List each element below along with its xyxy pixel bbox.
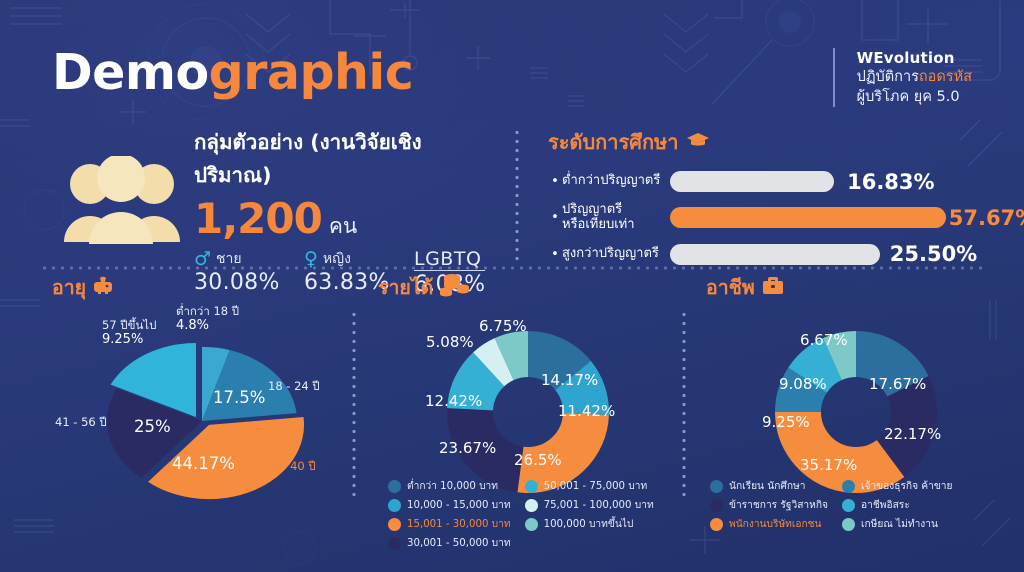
- divider-age-income: [352, 310, 356, 500]
- education-title: ระดับการศึกษา: [548, 126, 678, 158]
- income-value-0: 14.17%: [541, 371, 598, 389]
- legend-label: 50,001 - 75,000 บาท: [544, 478, 648, 494]
- legend-label: นักเรียน นักศึกษา: [729, 478, 805, 494]
- legend-color-dot: [710, 499, 723, 512]
- divider-income-occupation: [682, 310, 686, 500]
- legend-item[interactable]: เจ้าของธุรกิจ ค้าขาย: [842, 478, 952, 494]
- bullet-icon: •: [548, 174, 562, 189]
- income-value-3: 23.67%: [439, 439, 496, 457]
- page-title: Demographic: [52, 48, 413, 97]
- education-row: • ปริญญาตรี หรือเทียบเท่า 57.67%: [548, 203, 998, 233]
- legend-color-dot: [842, 499, 855, 512]
- legend-color-dot: [388, 518, 401, 531]
- piggy-bank-icon: [93, 276, 113, 300]
- education-section: ระดับการศึกษา • ต่ำกว่าปริญญาตรี 16.83% …: [548, 126, 998, 265]
- occupation-chart-title: อาชีพ: [706, 272, 755, 303]
- education-row-label: ปริญญาตรี หรือเทียบเท่า: [562, 203, 670, 233]
- age-label-2: 25 - 40 ปี: [264, 458, 316, 476]
- brand-tagline-prefix: ปฏิบัติการ: [857, 69, 919, 85]
- income-legend-column-right: 50,001 - 75,000 บาท 75,001 - 100,000 บาท…: [525, 478, 654, 551]
- legend-label: พนักงานบริษัทเอกชน: [729, 516, 822, 532]
- legend-item[interactable]: พนักงานบริษัทเอกชน: [710, 516, 828, 532]
- income-chart-title-row: รายได้: [378, 272, 678, 303]
- male-symbol-icon: ♂: [194, 250, 211, 269]
- coins-stack-icon: [440, 273, 470, 302]
- legend-color-dot: [388, 480, 401, 493]
- female-symbol-icon: ♀: [304, 250, 318, 269]
- legend-item[interactable]: เกษียณ ไม่ทำงาน: [842, 516, 952, 532]
- age-value-3: 25%: [134, 417, 171, 436]
- education-title-row: ระดับการศึกษา: [548, 126, 998, 158]
- legend-item[interactable]: 30,001 - 50,000 บาท: [388, 535, 511, 551]
- income-value-6: 6.75%: [479, 317, 527, 335]
- income-value-5: 5.08%: [426, 333, 474, 351]
- legend-color-dot: [710, 518, 723, 531]
- legend-color-dot: [710, 480, 723, 493]
- legend-color-dot: [525, 499, 538, 512]
- gender-male-label: ชาย: [216, 248, 242, 270]
- age-pie-svg: [52, 309, 352, 509]
- education-row: • สูงกว่าปริญญาตรี 25.50%: [548, 244, 998, 265]
- education-row-value: 25.50%: [890, 242, 977, 266]
- age-chart-title-row: อายุ: [52, 272, 352, 303]
- legend-color-dot: [842, 518, 855, 531]
- education-bar-fill: [670, 244, 880, 265]
- legend-item[interactable]: ต่ำกว่า 10,000 บาท: [388, 478, 511, 494]
- gender-female-label: หญิง: [323, 248, 351, 270]
- education-row: • ต่ำกว่าปริญญาตรี 16.83%: [548, 171, 998, 192]
- age-pie-chart: ต่ำกว่า 18 ปี 4.8% 57 ปีขึ้นไป 9.25% 18 …: [52, 309, 352, 509]
- legend-color-dot: [842, 480, 855, 493]
- gender-lgbtq-label: LGBTQ: [414, 248, 481, 270]
- income-legend-column-left: ต่ำกว่า 10,000 บาท 10,000 - 15,000 บาท 1…: [388, 478, 511, 551]
- income-value-4: 12.42%: [425, 392, 482, 410]
- income-legend: ต่ำกว่า 10,000 บาท 10,000 - 15,000 บาท 1…: [388, 478, 654, 551]
- occupation-value-0: 17.67%: [869, 375, 926, 393]
- age-value-1: 17.5%: [213, 388, 265, 407]
- legend-item[interactable]: 50,001 - 75,000 บาท: [525, 478, 654, 494]
- people-group-icon: [62, 156, 180, 248]
- income-chart-title: รายได้: [378, 272, 433, 303]
- legend-label: 75,001 - 100,000 บาท: [544, 497, 654, 513]
- age-label-3: 41 - 56 ปี: [55, 414, 107, 432]
- brand-tagline-1: ปฏิบัติการถอดรหัส: [857, 68, 972, 88]
- education-bar-track: 57.67%: [670, 207, 998, 228]
- legend-label: เกษียณ ไม่ทำงาน: [861, 516, 938, 532]
- legend-label: ข้าราชการ รัฐวิสาหกิจ: [729, 497, 828, 513]
- legend-label: 15,001 - 30,000 บาท: [407, 516, 511, 532]
- title-part-white: Demo: [52, 44, 209, 101]
- legend-color-dot: [388, 499, 401, 512]
- age-chart-panel: อายุ: [52, 272, 352, 509]
- age-value-0: 4.8%: [176, 318, 209, 333]
- education-bar-track: 25.50%: [670, 244, 998, 265]
- sample-count: 1,200คน: [194, 198, 496, 240]
- occupation-value-5: 6.67%: [800, 331, 848, 349]
- education-row-value: 16.83%: [847, 170, 934, 194]
- education-row-label: ต่ำกว่าปริญญาตรี: [562, 174, 670, 189]
- brand-tagline-highlight: ถอดรหัส: [919, 69, 972, 85]
- occupation-legend-column-left: นักเรียน นักศึกษา ข้าราชการ รัฐวิสาหกิจ …: [710, 478, 828, 532]
- age-value-2: 44.17%: [172, 454, 235, 473]
- occupation-value-2: 35.17%: [800, 456, 857, 474]
- legend-label: ต่ำกว่า 10,000 บาท: [407, 478, 498, 494]
- age-chart-title: อายุ: [52, 272, 86, 303]
- income-chart-panel: รายได้: [378, 272, 678, 509]
- legend-label: 10,000 - 15,000 บาท: [407, 497, 511, 513]
- occupation-value-1: 22.17%: [884, 425, 941, 443]
- legend-color-dot: [388, 537, 401, 550]
- occupation-chart-panel: อาชีพ 17.67%: [706, 272, 1006, 509]
- legend-item[interactable]: 15,001 - 30,000 บาท: [388, 516, 511, 532]
- education-row-label: สูงกว่าปริญญาตรี: [562, 247, 670, 262]
- income-value-1: 11.42%: [558, 402, 615, 420]
- brand-block: WEvolution ปฏิบัติการถอดรหัส ผู้บริโภค ย…: [833, 48, 972, 107]
- legend-label: 30,001 - 50,000 บาท: [407, 535, 511, 551]
- legend-label: 100,000 บาทขึ้นไป: [544, 516, 634, 532]
- graduation-cap-icon: [686, 130, 710, 154]
- divider-sample-education: [515, 128, 519, 260]
- brand-tagline-2: ผู้บริโภค ยุค 5.0: [857, 88, 972, 108]
- legend-item[interactable]: ข้าราชการ รัฐวิสาหกิจ: [710, 497, 828, 513]
- occupation-value-4: 9.08%: [779, 375, 827, 393]
- occupation-chart-title-row: อาชีพ: [706, 272, 1006, 303]
- bullet-icon: •: [548, 210, 562, 225]
- legend-item[interactable]: 75,001 - 100,000 บาท: [525, 497, 654, 513]
- sample-group-title: กลุ่มตัวอย่าง (งานวิจัยเชิงปริมาณ): [194, 126, 496, 192]
- sample-count-value: 1,200: [194, 194, 322, 243]
- income-value-2: 26.5%: [514, 451, 562, 469]
- education-bar-fill: [670, 171, 834, 192]
- sample-count-unit: คน: [329, 214, 357, 238]
- education-bar-track: 16.83%: [670, 171, 998, 192]
- education-rows: • ต่ำกว่าปริญญาตรี 16.83% • ปริญญาตรี หร…: [548, 171, 998, 265]
- legend-label: อาชีพอิสระ: [861, 497, 910, 513]
- bullet-icon: •: [548, 247, 562, 262]
- brand-name: WEvolution: [857, 48, 972, 68]
- briefcase-icon: [762, 276, 784, 300]
- legend-label: เจ้าของธุรกิจ ค้าขาย: [861, 478, 952, 494]
- title-part-orange: graphic: [209, 44, 414, 101]
- legend-item[interactable]: นักเรียน นักศึกษา: [710, 478, 828, 494]
- legend-item[interactable]: 10,000 - 15,000 บาท: [388, 497, 511, 513]
- legend-color-dot: [525, 480, 538, 493]
- infographic-canvas: Demographic WEvolution ปฏิบัติการถอดรหัส…: [0, 0, 1024, 572]
- occupation-value-3: 9.25%: [762, 413, 810, 431]
- age-value-4: 9.25%: [102, 332, 143, 347]
- education-bar-fill: [670, 207, 946, 228]
- legend-color-dot: [525, 518, 538, 531]
- legend-item[interactable]: อาชีพอิสระ: [842, 497, 952, 513]
- occupation-legend: นักเรียน นักศึกษา ข้าราชการ รัฐวิสาหกิจ …: [710, 478, 952, 532]
- occupation-legend-column-right: เจ้าของธุรกิจ ค้าขาย อาชีพอิสระ เกษียณ ไ…: [842, 478, 952, 532]
- legend-item[interactable]: 100,000 บาทขึ้นไป: [525, 516, 654, 532]
- age-label-1: 18 - 24 ปี: [268, 378, 320, 396]
- education-row-value: 57.67%: [949, 206, 1024, 230]
